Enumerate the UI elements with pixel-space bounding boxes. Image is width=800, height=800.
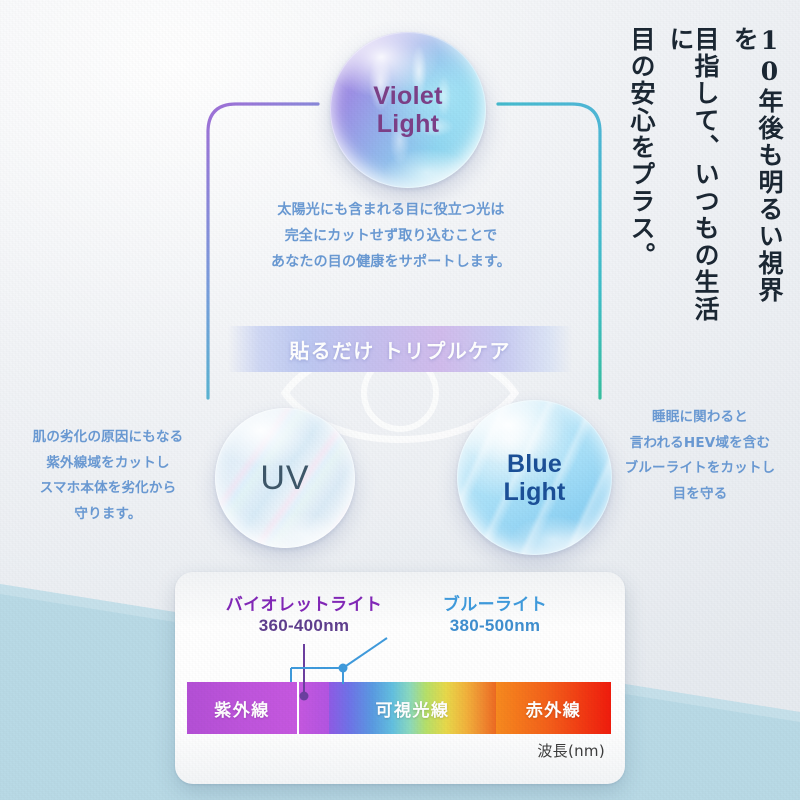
headline-col-2: 目指して、いつもの生活に [668, 26, 718, 326]
spectrum-card: バイオレットライト 360-400nm ブルーライト 380-500nm 紫外線… [175, 572, 625, 784]
blue-light-line1: Blue [507, 450, 562, 478]
spectrum-segment-infrared: 赤外線 [496, 682, 611, 734]
spectrum-segment-visible: 可視光線 [329, 682, 496, 734]
poster-canvas: Violet Light UV Blue Light 太陽光にも含まれる目に役立… [0, 0, 800, 800]
legend-blue-range: 380-500nm [415, 616, 575, 636]
violet-light-description: 太陽光にも含まれる目に役立つ光は完全にカットせず取り込むことであなたの目の健康を… [235, 198, 547, 276]
uv-description: 肌の劣化の原因にもなる紫外線域をカットしスマホ本体を劣化から守ります。 [8, 425, 208, 528]
violet-light-line2: Light [377, 110, 440, 138]
violet-light-line1: Violet [373, 82, 442, 110]
spectrum-axis-unit: 波長(nm) [475, 740, 605, 761]
uv-sphere[interactable]: UV [215, 408, 355, 548]
blue-light-label: Blue Light [503, 450, 565, 506]
blue-light-description: 睡眠に関わると言われるHEV域を含むブルーライトをカットし目を守る [600, 405, 800, 508]
triple-care-label: 貼るだけ トリプルケア [228, 326, 572, 372]
spectrum-bar: 紫外線 可視光線 赤外線 [187, 682, 611, 734]
violet-light-label: Violet Light [373, 82, 442, 138]
headline-col-3: 目の安心をプラス。 [629, 26, 654, 326]
uv-label: UV [260, 459, 309, 497]
page-title: 10年後も明るい視界を 目指して、いつもの生活に 目の安心をプラス。 [629, 26, 782, 326]
legend-violet-title: バイオレットライト [209, 590, 399, 615]
legend-violet-range: 360-400nm [209, 616, 399, 636]
spectrum-segment-violet-band [297, 682, 329, 734]
legend-blue-title: ブルーライト [415, 590, 575, 615]
blue-light-sphere[interactable]: Blue Light [457, 400, 612, 555]
headline-col-1: 10年後も明るい視界を [732, 26, 782, 326]
spectrum-legend: バイオレットライト 360-400nm ブルーライト 380-500nm [175, 590, 625, 646]
spectrum-segment-uv: 紫外線 [187, 682, 297, 734]
blue-light-line2: Light [503, 478, 565, 506]
violet-light-sphere[interactable]: Violet Light [330, 32, 486, 188]
